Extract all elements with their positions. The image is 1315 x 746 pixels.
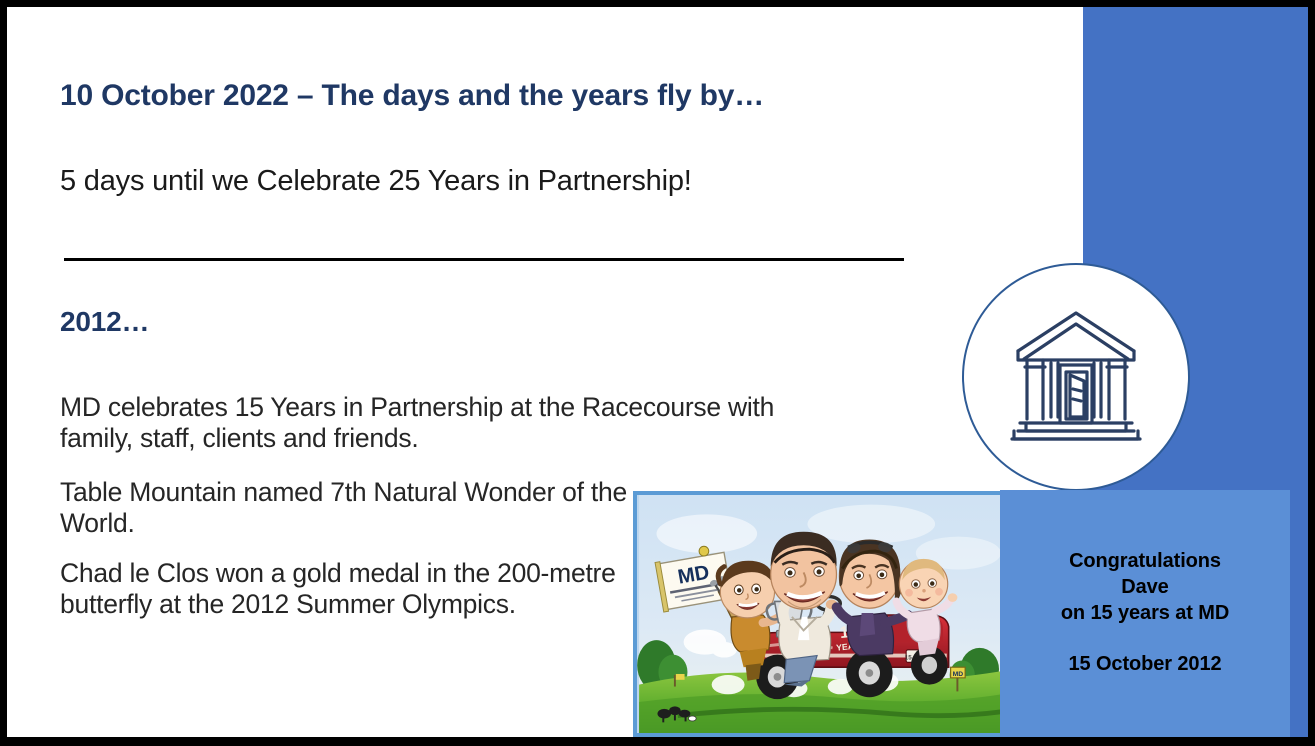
classical-building-doorway-sketch-icon [1010,307,1142,447]
horizontal-divider [64,258,904,261]
year-heading: 2012… [60,306,149,338]
slide: MD MD [0,0,1315,746]
congrats-date: 15 October 2012 [1068,652,1221,678]
congrats-line-3: on 15 years at MD [1061,601,1229,627]
congrats-line-2: Dave [1121,575,1168,601]
body-paragraph-1: MD celebrates 15 Years in Partnership at… [60,392,805,453]
body-paragraph-3: Chad le Clos won a gold medal in the 200… [60,558,640,619]
congratulations-panel: Congratulations Dave on 15 years at MD 1… [1000,490,1290,737]
logo-circle [962,263,1190,491]
countdown-subtitle: 5 days until we Celebrate 25 Years in Pa… [60,165,692,198]
body-paragraph-2: Table Mountain named 7th Natural Wonder … [60,477,640,538]
congrats-line-1: Congratulations [1069,549,1221,575]
text-column: 10 October 2022 – The days and the years… [60,7,960,737]
page-title: 10 October 2022 – The days and the years… [60,79,764,113]
slide-canvas: MD MD [7,7,1308,737]
